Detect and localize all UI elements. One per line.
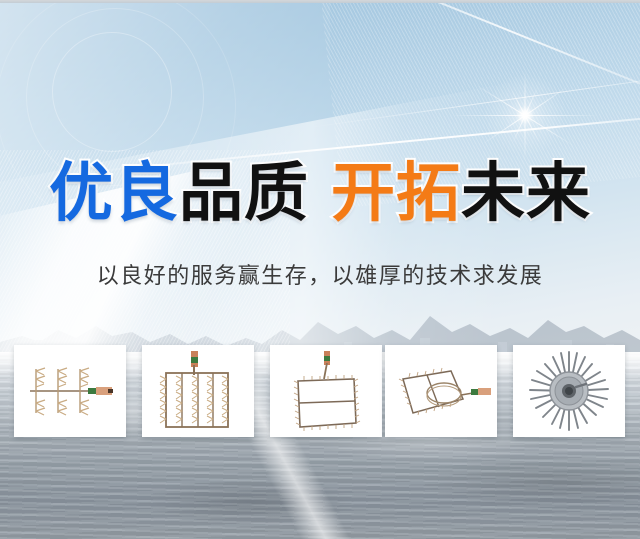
product-card-2[interactable] bbox=[142, 345, 254, 437]
rectangular-frame-heating-element-icon bbox=[270, 345, 382, 437]
top-edge-strip bbox=[0, 0, 640, 3]
radial-starburst-heating-element-icon bbox=[513, 345, 625, 437]
product-card-4[interactable] bbox=[385, 345, 497, 437]
ring-panel-heating-element-icon bbox=[385, 345, 497, 437]
headline-part-4: 未来 bbox=[461, 157, 591, 231]
product-card-strip bbox=[0, 345, 640, 439]
product-card-5[interactable] bbox=[513, 345, 625, 437]
product-card-3[interactable] bbox=[270, 345, 382, 437]
headline-part-2: 品质 bbox=[179, 157, 309, 231]
headline-part-3: 开拓 bbox=[331, 157, 461, 231]
hero-subtitle: 以良好的服务赢生存，以雄厚的技术求发展 bbox=[0, 258, 640, 290]
headline-part-1: 优良 bbox=[49, 157, 179, 231]
hero-headline: 优良品质开拓未来 bbox=[0, 162, 640, 227]
hero-banner: 优良品质开拓未来 以良好的服务赢生存，以雄厚的技术求发展 bbox=[0, 0, 640, 539]
product-card-1[interactable] bbox=[14, 345, 126, 437]
comb-type-heating-element-icon bbox=[14, 345, 126, 437]
ladder-frame-heating-element-icon bbox=[142, 345, 254, 437]
